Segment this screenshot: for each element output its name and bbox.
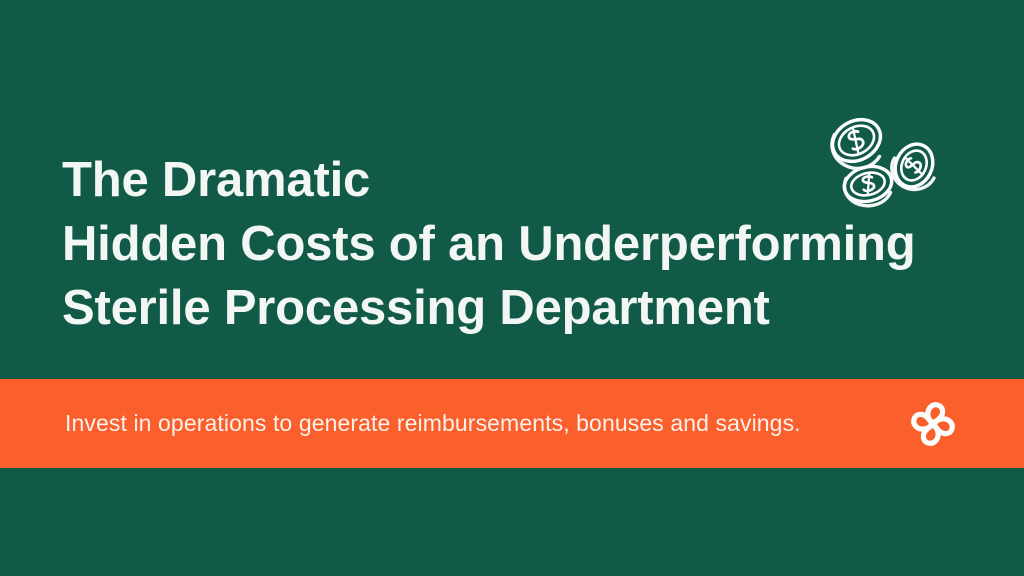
slide-canvas: The Dramatic Hidden Costs of an Underper… [0, 0, 1024, 576]
subtitle-band: Invest in operations to generate reimbur… [0, 379, 1024, 468]
page-title: The Dramatic Hidden Costs of an Underper… [62, 148, 962, 340]
title-line-1: The Dramatic [62, 148, 962, 212]
subtitle-text: Invest in operations to generate reimbur… [65, 379, 801, 468]
clover-pinwheel-logo-icon [901, 392, 965, 456]
title-line-2: Hidden Costs of an Underperforming [62, 212, 962, 276]
title-line-3: Sterile Processing Department [62, 276, 962, 340]
